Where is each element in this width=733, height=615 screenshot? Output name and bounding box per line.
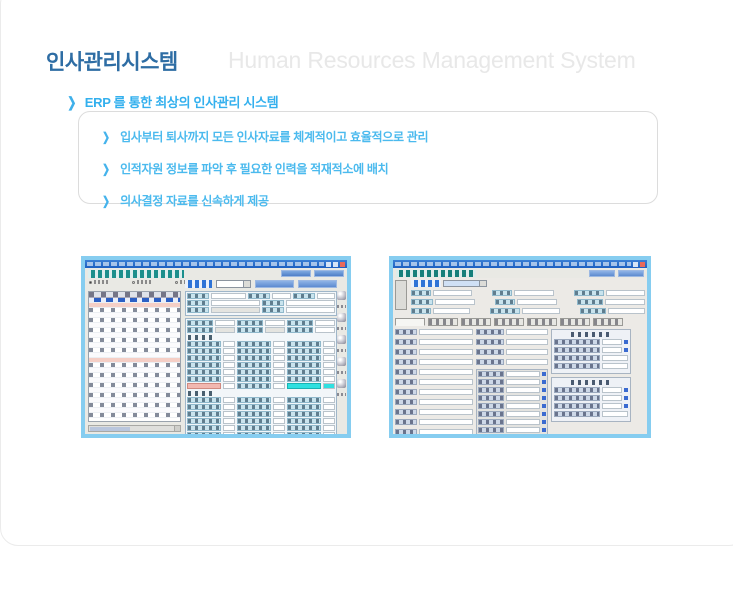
- employee-photo: [395, 280, 407, 310]
- toolbar-button[interactable]: [618, 270, 644, 277]
- screenshot-thumbnail-employee-list[interactable]: [81, 256, 351, 438]
- list-item-label: 입사부터 퇴사까지 모든 인사자료를 체계적이고 효율적으로 관리: [120, 128, 428, 145]
- horizontal-scrollbar[interactable]: [88, 425, 181, 432]
- detail-column-right: [551, 329, 631, 438]
- tab-license[interactable]: [527, 318, 557, 326]
- basic-info-box: [185, 291, 337, 316]
- print-button[interactable]: [298, 280, 337, 288]
- panel-title: [571, 380, 611, 385]
- detail-column-left: [395, 329, 473, 438]
- list-item-label: 인적자원 정보를 파악 후 필요한 인력을 적재적소에 배치: [120, 160, 388, 177]
- app-window: [393, 260, 647, 434]
- window-titlebar: [393, 260, 647, 268]
- list-item: ❯ 입사부터 퇴사까지 모든 인사자료를 체계적이고 효율적으로 관리: [101, 125, 657, 148]
- list-item: ❯ 의사결정 자료를 신속하게 제공: [101, 189, 657, 212]
- icon-rail: [634, 329, 645, 438]
- table-row[interactable]: [89, 413, 180, 418]
- app-header-title: [396, 270, 476, 277]
- minimize-icon: [633, 262, 638, 267]
- insurance-panel: [551, 377, 631, 422]
- subheading-label: ERP 를 통한 최상의 인사관리 시스템: [85, 92, 279, 111]
- department-select[interactable]: [216, 280, 251, 288]
- tab-etc[interactable]: [593, 318, 623, 326]
- radio-current: [132, 280, 153, 284]
- maximize-icon: [333, 262, 338, 267]
- search-label: [185, 280, 212, 288]
- section-caption: [188, 335, 214, 340]
- app-header-buttons: [281, 270, 344, 277]
- section-caption: [188, 391, 214, 396]
- window-titlebar: [85, 260, 347, 268]
- sub-list[interactable]: [476, 369, 548, 438]
- panel-title: [571, 332, 611, 337]
- user-icon[interactable]: [337, 313, 346, 322]
- close-icon: [640, 262, 645, 267]
- window-title-text: [395, 262, 631, 266]
- chevron-right-icon: ❯: [102, 163, 110, 175]
- screenshot-thumbnail-employee-detail[interactable]: [389, 256, 651, 438]
- window-body: [393, 278, 647, 438]
- list-item: ❯ 인적자원 정보를 파악 후 필요한 인력을 적재적소에 배치: [101, 157, 657, 180]
- employee-table[interactable]: [88, 291, 181, 422]
- radio-all: [89, 280, 110, 284]
- tab-basic[interactable]: [395, 318, 425, 326]
- save-button[interactable]: [255, 280, 294, 288]
- toolbar-button[interactable]: [589, 270, 615, 277]
- app-header: [85, 268, 347, 279]
- exit-icon[interactable]: [337, 379, 346, 388]
- toolbar-button: [281, 270, 311, 277]
- chevron-right-icon: ❯: [67, 95, 76, 109]
- gear-icon[interactable]: [337, 357, 346, 366]
- chevron-right-icon: ❯: [102, 195, 110, 207]
- list-item-label: 의사결정 자료를 신속하게 제공: [120, 192, 269, 209]
- page-header: 인사관리시스템 Human Resources Management Syste…: [46, 46, 706, 86]
- tab-career[interactable]: [428, 318, 458, 326]
- detail-column-middle: [476, 329, 548, 438]
- page-title-korean: 인사관리시스템: [46, 46, 178, 76]
- tab-training[interactable]: [560, 318, 590, 326]
- window-title-text: [87, 262, 324, 266]
- app-header: [393, 268, 647, 278]
- chevron-down-icon: [243, 281, 250, 287]
- detail-info-box: [185, 318, 337, 438]
- tab-family[interactable]: [494, 318, 524, 326]
- app-header-buttons: [589, 270, 644, 277]
- identity-fields: [411, 280, 645, 315]
- subheading: ❯ ERP 를 통한 최상의 인사관리 시스템: [66, 92, 278, 111]
- app-header-title: [88, 270, 184, 278]
- window-body: [85, 279, 347, 434]
- tab-education[interactable]: [461, 318, 491, 326]
- page-title-english: Human Resources Management System: [228, 47, 636, 74]
- form-toolbar: [185, 279, 337, 289]
- app-window: [85, 260, 347, 434]
- printer-icon[interactable]: [337, 291, 346, 300]
- folder-icon[interactable]: [337, 335, 346, 344]
- identity-block: [395, 280, 645, 315]
- chevron-right-icon: ❯: [102, 131, 110, 143]
- icon-rail: [337, 291, 346, 396]
- employee-form: [185, 279, 337, 434]
- radio-group: [89, 280, 196, 284]
- minimize-icon: [326, 262, 331, 267]
- detail-columns: [395, 329, 645, 438]
- tab-bar: [395, 318, 645, 326]
- close-icon: [340, 262, 345, 267]
- toolbar-button: [314, 270, 344, 277]
- feature-list: ❯ 입사부터 퇴사까지 모든 인사자료를 체계적이고 효율적으로 관리 ❯ 인적…: [78, 111, 658, 204]
- salary-panel: [551, 329, 631, 374]
